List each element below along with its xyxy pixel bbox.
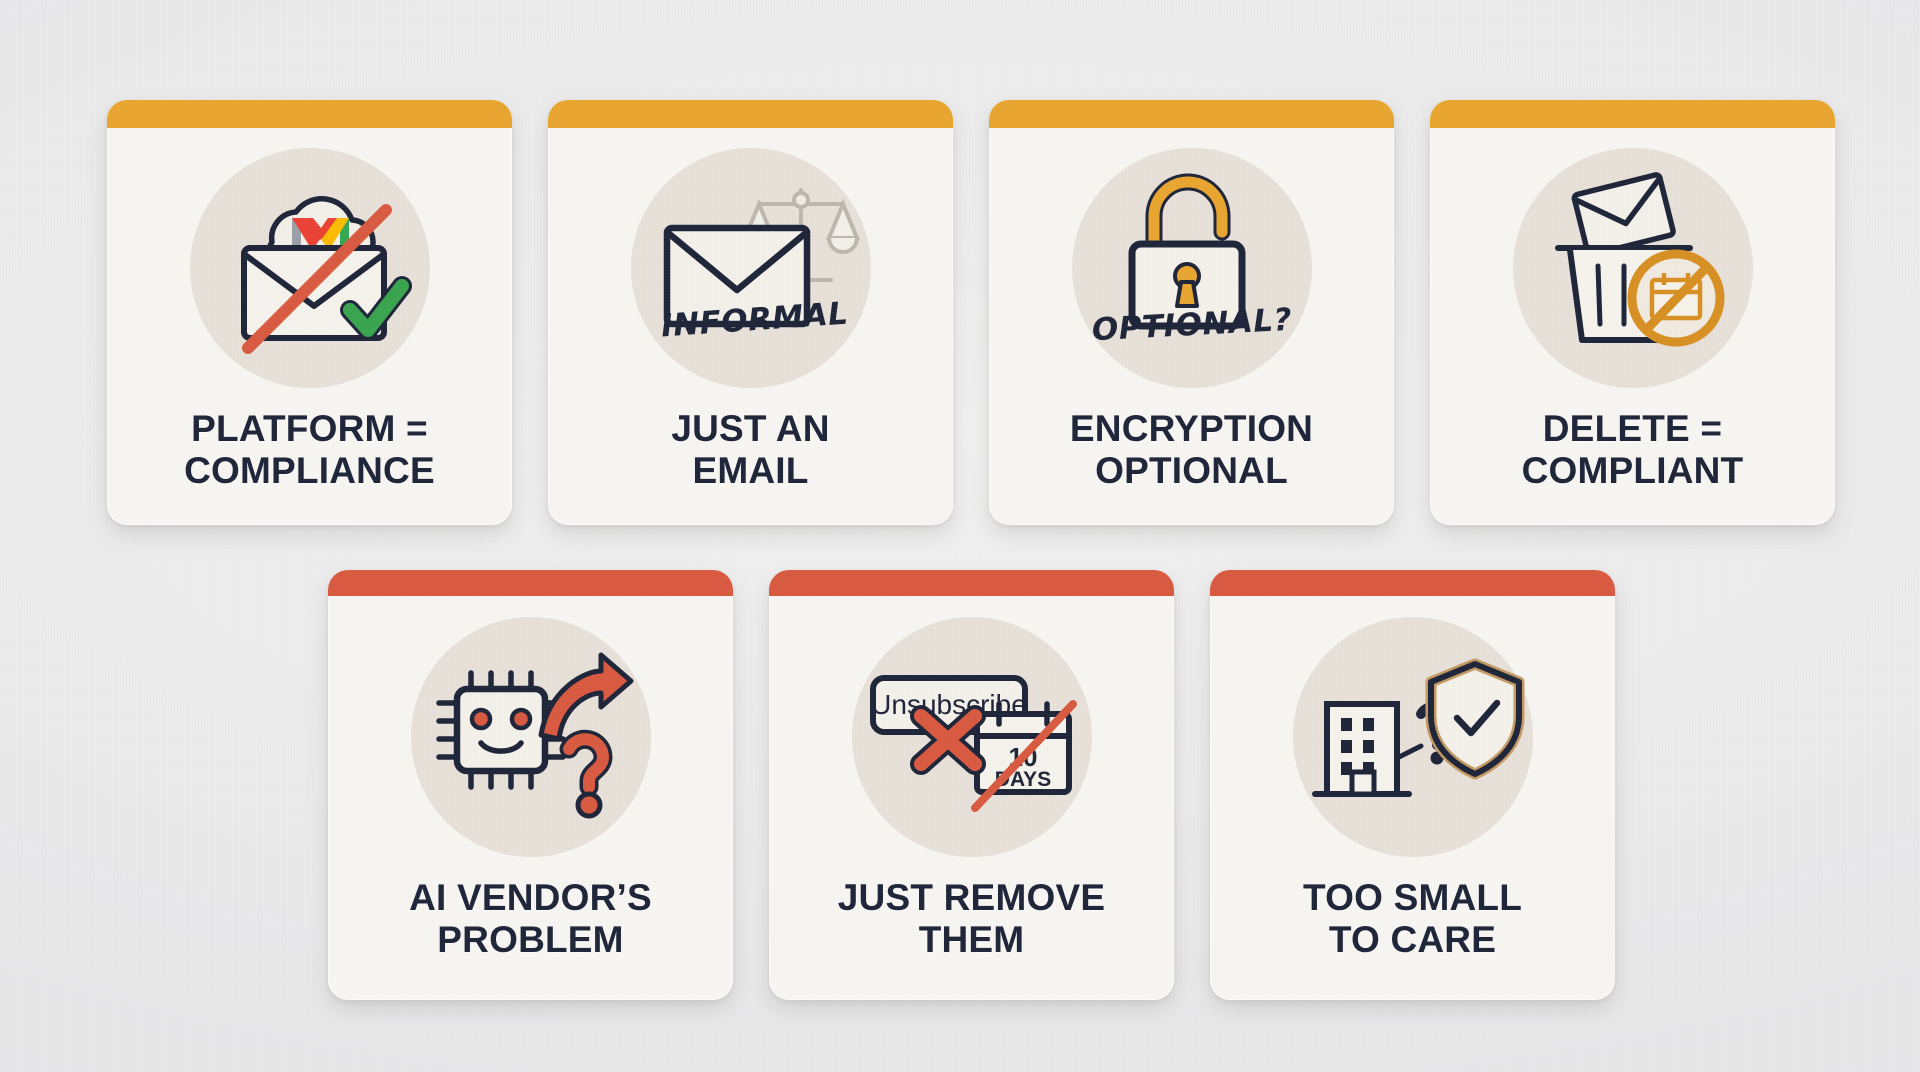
card-accent-bar — [107, 100, 512, 128]
card-icon-area: Unsubscribe 10 DAYS — [769, 596, 1174, 877]
card-icon-area — [328, 596, 733, 877]
icon-disc: Unsubscribe 10 DAYS — [852, 617, 1092, 857]
card-accent-bar — [328, 570, 733, 596]
card-icon-area — [107, 128, 512, 408]
card-label: PLATFORM = COMPLIANCE — [107, 408, 512, 525]
card-too-small-to-care[interactable]: TOO SMALL TO CARE — [1210, 570, 1615, 1000]
card-ai-vendors-problem[interactable]: AI VENDOR’S PROBLEM — [328, 570, 733, 1000]
gmail-cloud-envelope-slash-check-icon — [200, 168, 420, 368]
card-just-an-email[interactable]: INFORMAL JUST AN EMAIL — [548, 100, 953, 525]
card-accent-bar — [1210, 570, 1615, 596]
card-accent-bar — [1430, 100, 1835, 128]
card-platform-compliance[interactable]: PLATFORM = COMPLIANCE — [107, 100, 512, 525]
card-label: JUST AN EMAIL — [548, 408, 953, 525]
card-label: ENCRYPTION OPTIONAL — [989, 408, 1394, 525]
poster-canvas: PLATFORM = COMPLIANCE — [0, 0, 1920, 1072]
icon-disc — [411, 617, 651, 857]
card-encryption-optional[interactable]: OPTIONAL? ENCRYPTION OPTIONAL — [989, 100, 1394, 525]
card-label: DELETE = COMPLIANT — [1430, 408, 1835, 525]
card-accent-bar — [548, 100, 953, 128]
card-label: TOO SMALL TO CARE — [1210, 877, 1615, 1000]
card-accent-bar — [989, 100, 1394, 128]
unsubscribe-x-calendar-icon: Unsubscribe 10 DAYS — [859, 642, 1084, 832]
building-question-shield-icon — [1303, 642, 1523, 832]
icon-disc — [1072, 148, 1312, 388]
icon-disc — [631, 148, 871, 388]
card-delete-compliant[interactable]: DELETE = COMPLIANT — [1430, 100, 1835, 525]
card-icon-area — [1210, 596, 1615, 877]
card-accent-bar — [769, 570, 1174, 596]
icon-disc — [1513, 148, 1753, 388]
card-icon-area: OPTIONAL? — [989, 128, 1394, 408]
card-icon-area: INFORMAL — [548, 128, 953, 408]
card-label: JUST REMOVE THEM — [769, 877, 1174, 1000]
card-icon-area — [1430, 128, 1835, 408]
card-label: AI VENDOR’S PROBLEM — [328, 877, 733, 1000]
icon-disc — [190, 148, 430, 388]
icon-disc — [1293, 617, 1533, 857]
cpu-chip-arrow-question-icon — [423, 637, 638, 837]
card-just-remove-them[interactable]: Unsubscribe 10 DAYS — [769, 570, 1174, 1000]
trash-envelope-no-calendar-icon — [1528, 168, 1738, 368]
